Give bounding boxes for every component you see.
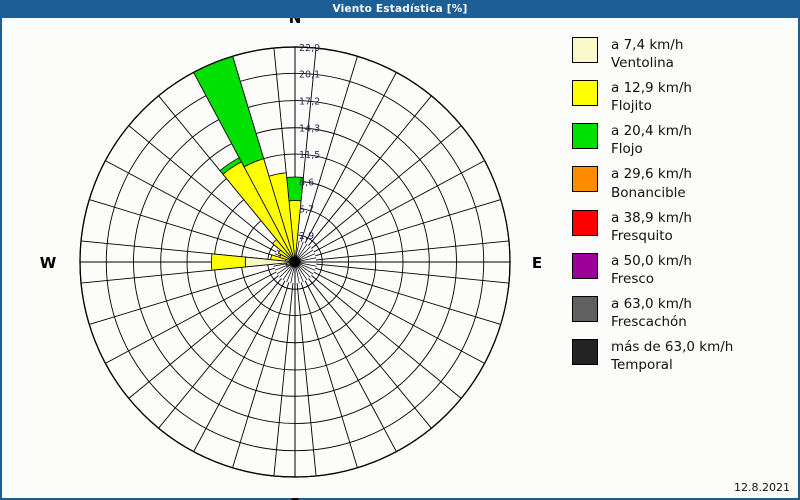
legend-label-speed: a 7,4 km/h (611, 37, 683, 53)
legend-swatch-icon (572, 210, 598, 236)
legend-label: a 38,9 km/hFresquito (611, 209, 692, 245)
grid-spoke (311, 126, 461, 249)
legend-swatch-icon (572, 339, 598, 365)
windrose-chart: 2,95,78,611,514,317,220,122,9 NESW (0, 18, 565, 500)
grid-spoke (233, 282, 289, 467)
legend-label: a 63,0 km/hFrescachón (611, 295, 692, 331)
legend-item[interactable]: a 20,4 km/hFlojo (572, 122, 797, 158)
legend-label-name: Frescachón (611, 313, 692, 331)
radial-tick-label: 8,6 (299, 177, 314, 188)
legend: a 7,4 km/hVentolinaa 12,9 km/hFlojitoa 2… (572, 36, 797, 381)
legend-swatch-icon (572, 123, 598, 149)
compass-label-e: E (532, 254, 542, 272)
grid-spoke (311, 275, 461, 398)
grid-spoke (105, 272, 276, 363)
legend-label-speed: a 12,9 km/h (611, 80, 692, 96)
legend-label: a 29,6 km/hBonancible (611, 165, 692, 201)
legend-label-name: Fresco (611, 270, 692, 288)
radial-tick-label: 17,2 (299, 97, 320, 108)
app-window: Viento Estadística [%] 2,95,78,611,514,3… (0, 0, 800, 500)
legend-label-speed: a 20,4 km/h (611, 123, 692, 139)
grid-spoke (314, 161, 485, 252)
compass-label-s: S (290, 495, 301, 500)
compass-label-n: N (289, 18, 302, 27)
legend-item[interactable]: a 12,9 km/hFlojito (572, 79, 797, 115)
grid-spoke (129, 275, 279, 398)
legend-item[interactable]: a 50,0 km/hFresco (572, 252, 797, 288)
legend-label-speed: a 29,6 km/h (611, 166, 692, 182)
grid-spoke (89, 200, 274, 256)
radial-tick-label: 14,3 (299, 124, 320, 135)
grid-spoke (194, 281, 285, 452)
grid-spoke (308, 96, 431, 246)
legend-swatch-icon (572, 37, 598, 63)
legend-label-name: Bonancible (611, 184, 692, 202)
date-stamp: 12.8.2021 (734, 481, 790, 494)
legend-swatch-icon (572, 80, 598, 106)
grid-spoke (305, 281, 396, 452)
legend-label: a 7,4 km/hVentolina (611, 36, 683, 72)
windrose-petals (194, 56, 304, 270)
grid-spoke (315, 268, 500, 324)
legend-label-name: Flojito (611, 97, 692, 115)
legend-label-speed: a 63,0 km/h (611, 296, 692, 312)
radial-tick-label: 2,9 (299, 231, 314, 242)
legend-label-name: Ventolina (611, 54, 683, 72)
legend-label-name: Temporal (611, 356, 733, 374)
radial-tick-labels: 2,95,78,611,514,317,220,122,9 (299, 43, 320, 242)
radial-tick-label: 22,9 (299, 43, 320, 54)
legend-label-name: Fresquito (611, 227, 692, 245)
windrose-segment (194, 56, 264, 167)
legend-item[interactable]: a 63,0 km/hFrescachón (572, 295, 797, 331)
windrose-segment (211, 254, 245, 270)
legend-swatch-icon (572, 253, 598, 279)
window-title-bar: Viento Estadística [%] (0, 0, 800, 18)
legend-item[interactable]: a 29,6 km/hBonancible (572, 165, 797, 201)
legend-label-speed: más de 63,0 km/h (611, 339, 733, 355)
grid-spoke (308, 278, 431, 428)
legend-label: a 50,0 km/hFresco (611, 252, 692, 288)
grid-spoke (301, 282, 357, 467)
grid-spoke (314, 272, 485, 363)
legend-item[interactable]: más de 63,0 km/hTemporal (572, 338, 797, 374)
legend-item[interactable]: a 7,4 km/hVentolina (572, 36, 797, 72)
legend-swatch-icon (572, 166, 598, 192)
window-title: Viento Estadística [%] (332, 3, 467, 15)
grid-spoke (89, 268, 274, 324)
legend-label-speed: a 50,0 km/h (611, 253, 692, 269)
radial-tick-label: 11,5 (299, 150, 320, 161)
legend-label: a 20,4 km/hFlojo (611, 122, 692, 158)
legend-swatch-icon (572, 296, 598, 322)
legend-item[interactable]: a 38,9 km/hFresquito (572, 209, 797, 245)
windrose-svg: 2,95,78,611,514,317,220,122,9 NESW (0, 18, 565, 500)
grid-spoke (315, 200, 500, 256)
legend-label-speed: a 38,9 km/h (611, 210, 692, 226)
compass-label-w: W (40, 254, 57, 272)
radial-tick-label: 5,7 (299, 204, 314, 215)
grid-spoke (159, 278, 282, 428)
radial-tick-label: 20,1 (299, 69, 320, 80)
windrose-hub (290, 257, 301, 268)
legend-label: más de 63,0 km/hTemporal (611, 338, 733, 374)
legend-label: a 12,9 km/hFlojito (611, 79, 692, 115)
legend-label-name: Flojo (611, 140, 692, 158)
